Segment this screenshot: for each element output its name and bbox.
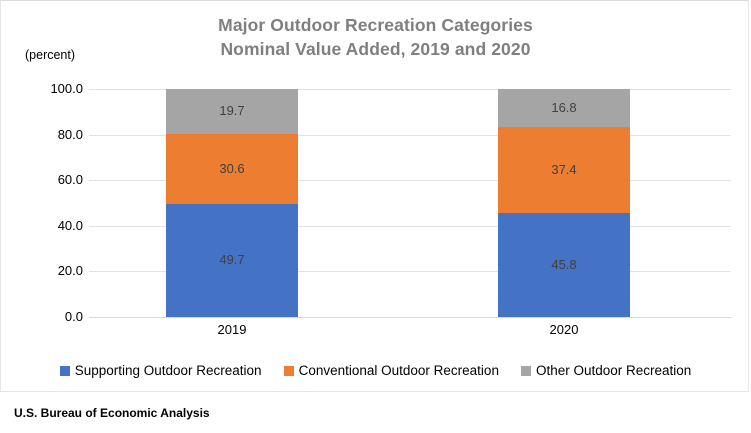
bar-segment-2020-conventional[interactable]: 37.4: [498, 127, 630, 212]
y-tick-100: 100.0: [5, 82, 83, 96]
legend-item-conventional[interactable]: Conventional Outdoor Recreation: [284, 363, 499, 379]
legend-swatch-conventional-icon: [284, 366, 294, 376]
legend-item-other[interactable]: Other Outdoor Recreation: [521, 363, 691, 379]
bar-segment-2019-other[interactable]: 19.7: [166, 89, 298, 134]
axis-baseline: [89, 317, 731, 318]
bar-2019[interactable]: 19.7 30.6 49.7: [166, 89, 298, 317]
chart-title-line-1: Major Outdoor Recreation Categories: [1, 13, 750, 37]
bar-label-2019-conventional: 30.6: [219, 162, 244, 176]
bar-label-2019-other: 19.7: [219, 104, 244, 118]
y-tick-0: 0.0: [5, 310, 83, 324]
x-axis: 2019 2020: [89, 321, 731, 345]
bar-segment-2019-conventional[interactable]: 30.6: [166, 134, 298, 204]
bar-label-2020-conventional: 37.4: [551, 163, 576, 177]
chart-container: Major Outdoor Recreation Categories Nomi…: [0, 0, 749, 392]
legend-label-supporting: Supporting Outdoor Recreation: [75, 363, 262, 379]
source-attribution: U.S. Bureau of Economic Analysis: [14, 406, 210, 420]
legend-swatch-other-icon: [521, 366, 531, 376]
chart-title-line-2: Nominal Value Added, 2019 and 2020: [1, 37, 750, 61]
y-tick-20: 20.0: [5, 264, 83, 278]
bar-2020[interactable]: 16.8 37.4 45.8: [498, 89, 630, 317]
y-axis: 100.0 80.0 60.0 40.0 20.0 0.0: [1, 89, 83, 317]
bar-segment-2020-other[interactable]: 16.8: [498, 89, 630, 127]
chart-legend: Supporting Outdoor Recreation Convention…: [1, 363, 750, 379]
bar-label-2020-supporting: 45.8: [551, 258, 576, 272]
bar-segment-2019-supporting[interactable]: 49.7: [166, 204, 298, 317]
x-tick-2020: 2020: [498, 321, 630, 339]
bar-label-2019-supporting: 49.7: [219, 253, 244, 267]
y-tick-80: 80.0: [5, 128, 83, 142]
bar-label-2020-other: 16.8: [551, 101, 576, 115]
bar-segment-2020-supporting[interactable]: 45.8: [498, 213, 630, 317]
legend-label-conventional: Conventional Outdoor Recreation: [299, 363, 499, 379]
legend-swatch-supporting-icon: [60, 366, 70, 376]
units-note: (percent): [25, 48, 75, 62]
x-tick-2019: 2019: [166, 321, 298, 339]
chart-title: Major Outdoor Recreation Categories Nomi…: [1, 13, 750, 61]
y-tick-60: 60.0: [5, 173, 83, 187]
legend-label-other: Other Outdoor Recreation: [536, 363, 691, 379]
legend-item-supporting[interactable]: Supporting Outdoor Recreation: [60, 363, 262, 379]
plot-area: 19.7 30.6 49.7 16.8 37.4 45.8: [89, 89, 731, 317]
y-tick-40: 40.0: [5, 219, 83, 233]
